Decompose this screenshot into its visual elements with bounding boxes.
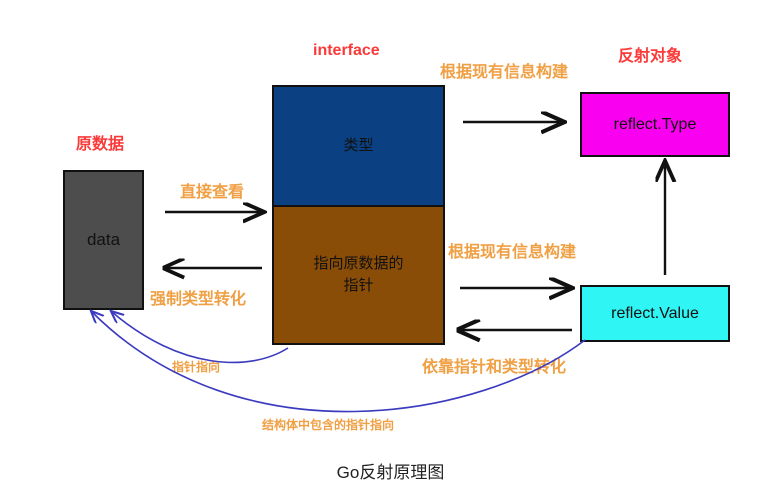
- label-pointer-points-to: 指针指向: [172, 358, 220, 375]
- label-rely-on-pointer-and-type: 依靠指针和类型转化: [422, 353, 566, 377]
- diagram-title: Go反射原理图: [0, 458, 781, 483]
- label-original-data: 原数据: [76, 130, 124, 154]
- box-reflect-type-label: reflect.Type: [614, 113, 697, 136]
- label-build-from-existing-mid: 根据现有信息构建: [448, 238, 576, 262]
- label-interface: interface: [313, 42, 380, 60]
- box-data-label: data: [87, 228, 120, 253]
- curve-pointer-points-to: [112, 312, 288, 362]
- box-type-label: 类型: [343, 135, 373, 157]
- box-pointer-label-line2: 指针: [313, 275, 403, 297]
- box-pointer-label-line1: 指向原数据的: [313, 253, 403, 275]
- box-reflect-value: reflect.Value: [580, 285, 730, 342]
- box-data: data: [63, 170, 144, 310]
- box-type: 类型: [272, 85, 445, 207]
- label-reflect-object: 反射对象: [618, 42, 682, 66]
- label-force-type-convert: 强制类型转化: [150, 285, 246, 309]
- label-build-from-existing-top: 根据现有信息构建: [440, 58, 568, 82]
- box-reflect-value-label: reflect.Value: [611, 302, 699, 325]
- box-reflect-type: reflect.Type: [580, 92, 730, 157]
- diagram-canvas: 原数据 interface 反射对象 data 类型 指向原数据的 指针 ref…: [0, 0, 781, 500]
- box-pointer: 指向原数据的 指针: [272, 207, 445, 345]
- label-direct-view: 直接查看: [180, 178, 244, 202]
- label-struct-contained-pointer: 结构体中包含的指针指向: [262, 416, 394, 433]
